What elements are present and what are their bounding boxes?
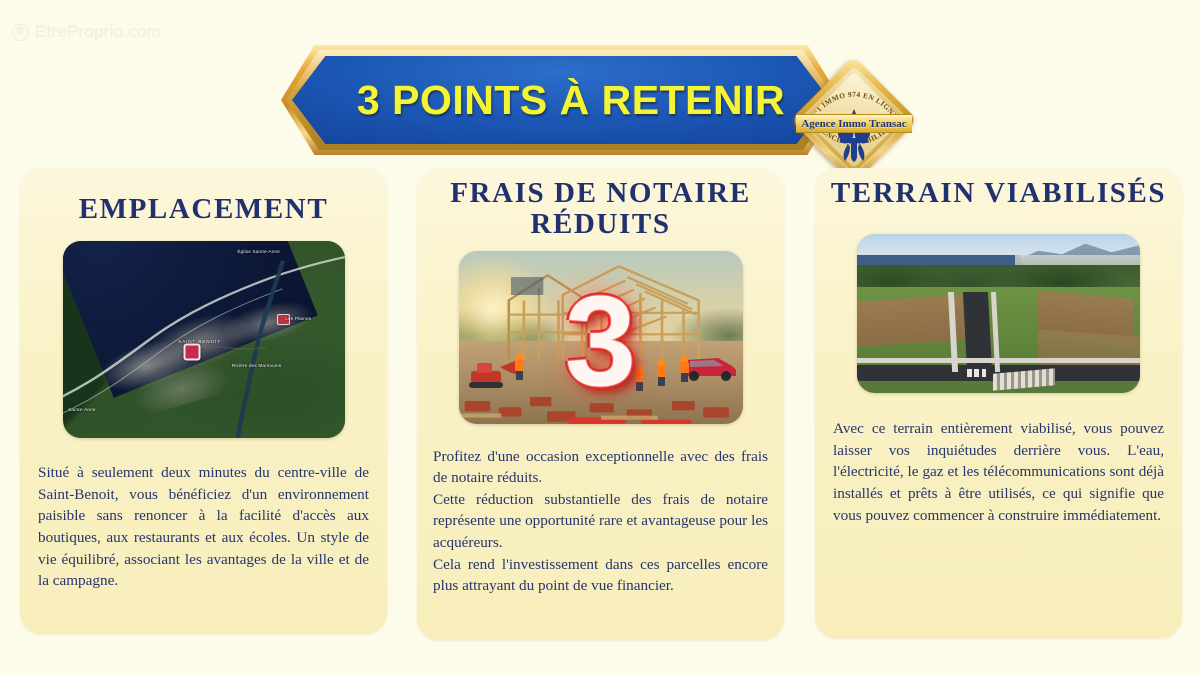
points-card-grid: EMPLACEMENT Église Sainte-Anne SAINT-	[0, 168, 1200, 648]
card-body-text: Avec ce terrain entièrement viabilisé, v…	[833, 418, 1164, 526]
crosswalk-stripe	[982, 369, 986, 377]
serviced-land-aerial-image	[857, 234, 1140, 393]
kerb-line	[857, 358, 1140, 363]
map-label-4: Rivière des Marsouins	[232, 363, 282, 368]
highlight-number: 3	[565, 278, 636, 406]
map-location-pin[interactable]	[184, 343, 201, 360]
card-emplacement[interactable]: EMPLACEMENT Église Sainte-Anne SAINT-	[20, 168, 387, 634]
card-title: EMPLACEMENT	[20, 194, 387, 225]
badge-name-band: Agence Immo Transac	[796, 114, 912, 133]
map-scene: Église Sainte-Anne SAINT-BENOÎT Les Plai…	[63, 241, 345, 438]
crosswalk-stripe	[967, 369, 971, 377]
badge-band-label: Agence Immo Transac	[801, 118, 906, 130]
map-label-1: Église Sainte-Anne	[237, 249, 280, 254]
satellite-map-image: Église Sainte-Anne SAINT-BENOÎT Les Plai…	[63, 241, 345, 438]
card-body-text: Situé à seulement deux minutes du centre…	[38, 462, 369, 591]
card-title: TERRAIN VIABILISÉS	[815, 178, 1182, 209]
card-frais-de-notaire-reduits[interactable]: FRAIS DE NOTAIRE RÉDUITS	[417, 168, 784, 640]
sea-strip	[857, 255, 1021, 265]
ribbon-face: 3 POINTS À RETENIR	[292, 56, 830, 144]
agency-logo-badge[interactable]: N°1 IMMO 974 EN LIGNE AGENCE IMMOBILIERE…	[790, 58, 918, 182]
map-label-3: Les Plaines	[285, 316, 311, 321]
banner-title: 3 POINTS À RETENIR	[357, 77, 785, 124]
crosswalk-stripe	[974, 369, 978, 377]
card-body-text: Profitez d'une occasion exceptionnelle a…	[433, 446, 768, 597]
card-terrain-viabilises[interactable]: TERRAIN VIABILISÉS	[815, 168, 1182, 638]
ribbon-shape: 3 POINTS À RETENIR	[281, 45, 841, 155]
card-title: FRAIS DE NOTAIRE RÉDUITS	[417, 178, 784, 241]
land-scene	[857, 234, 1140, 393]
construction-site-image: 3	[459, 251, 743, 424]
map-label-5: Sainte-Anne	[68, 407, 95, 412]
header-banner: 3 POINTS À RETENIR N°1 IMMO 974 EN LIGNE…	[0, 30, 1200, 150]
construction-scene: 3	[459, 251, 743, 424]
map-label-2: SAINT-BENOÎT	[178, 339, 221, 344]
